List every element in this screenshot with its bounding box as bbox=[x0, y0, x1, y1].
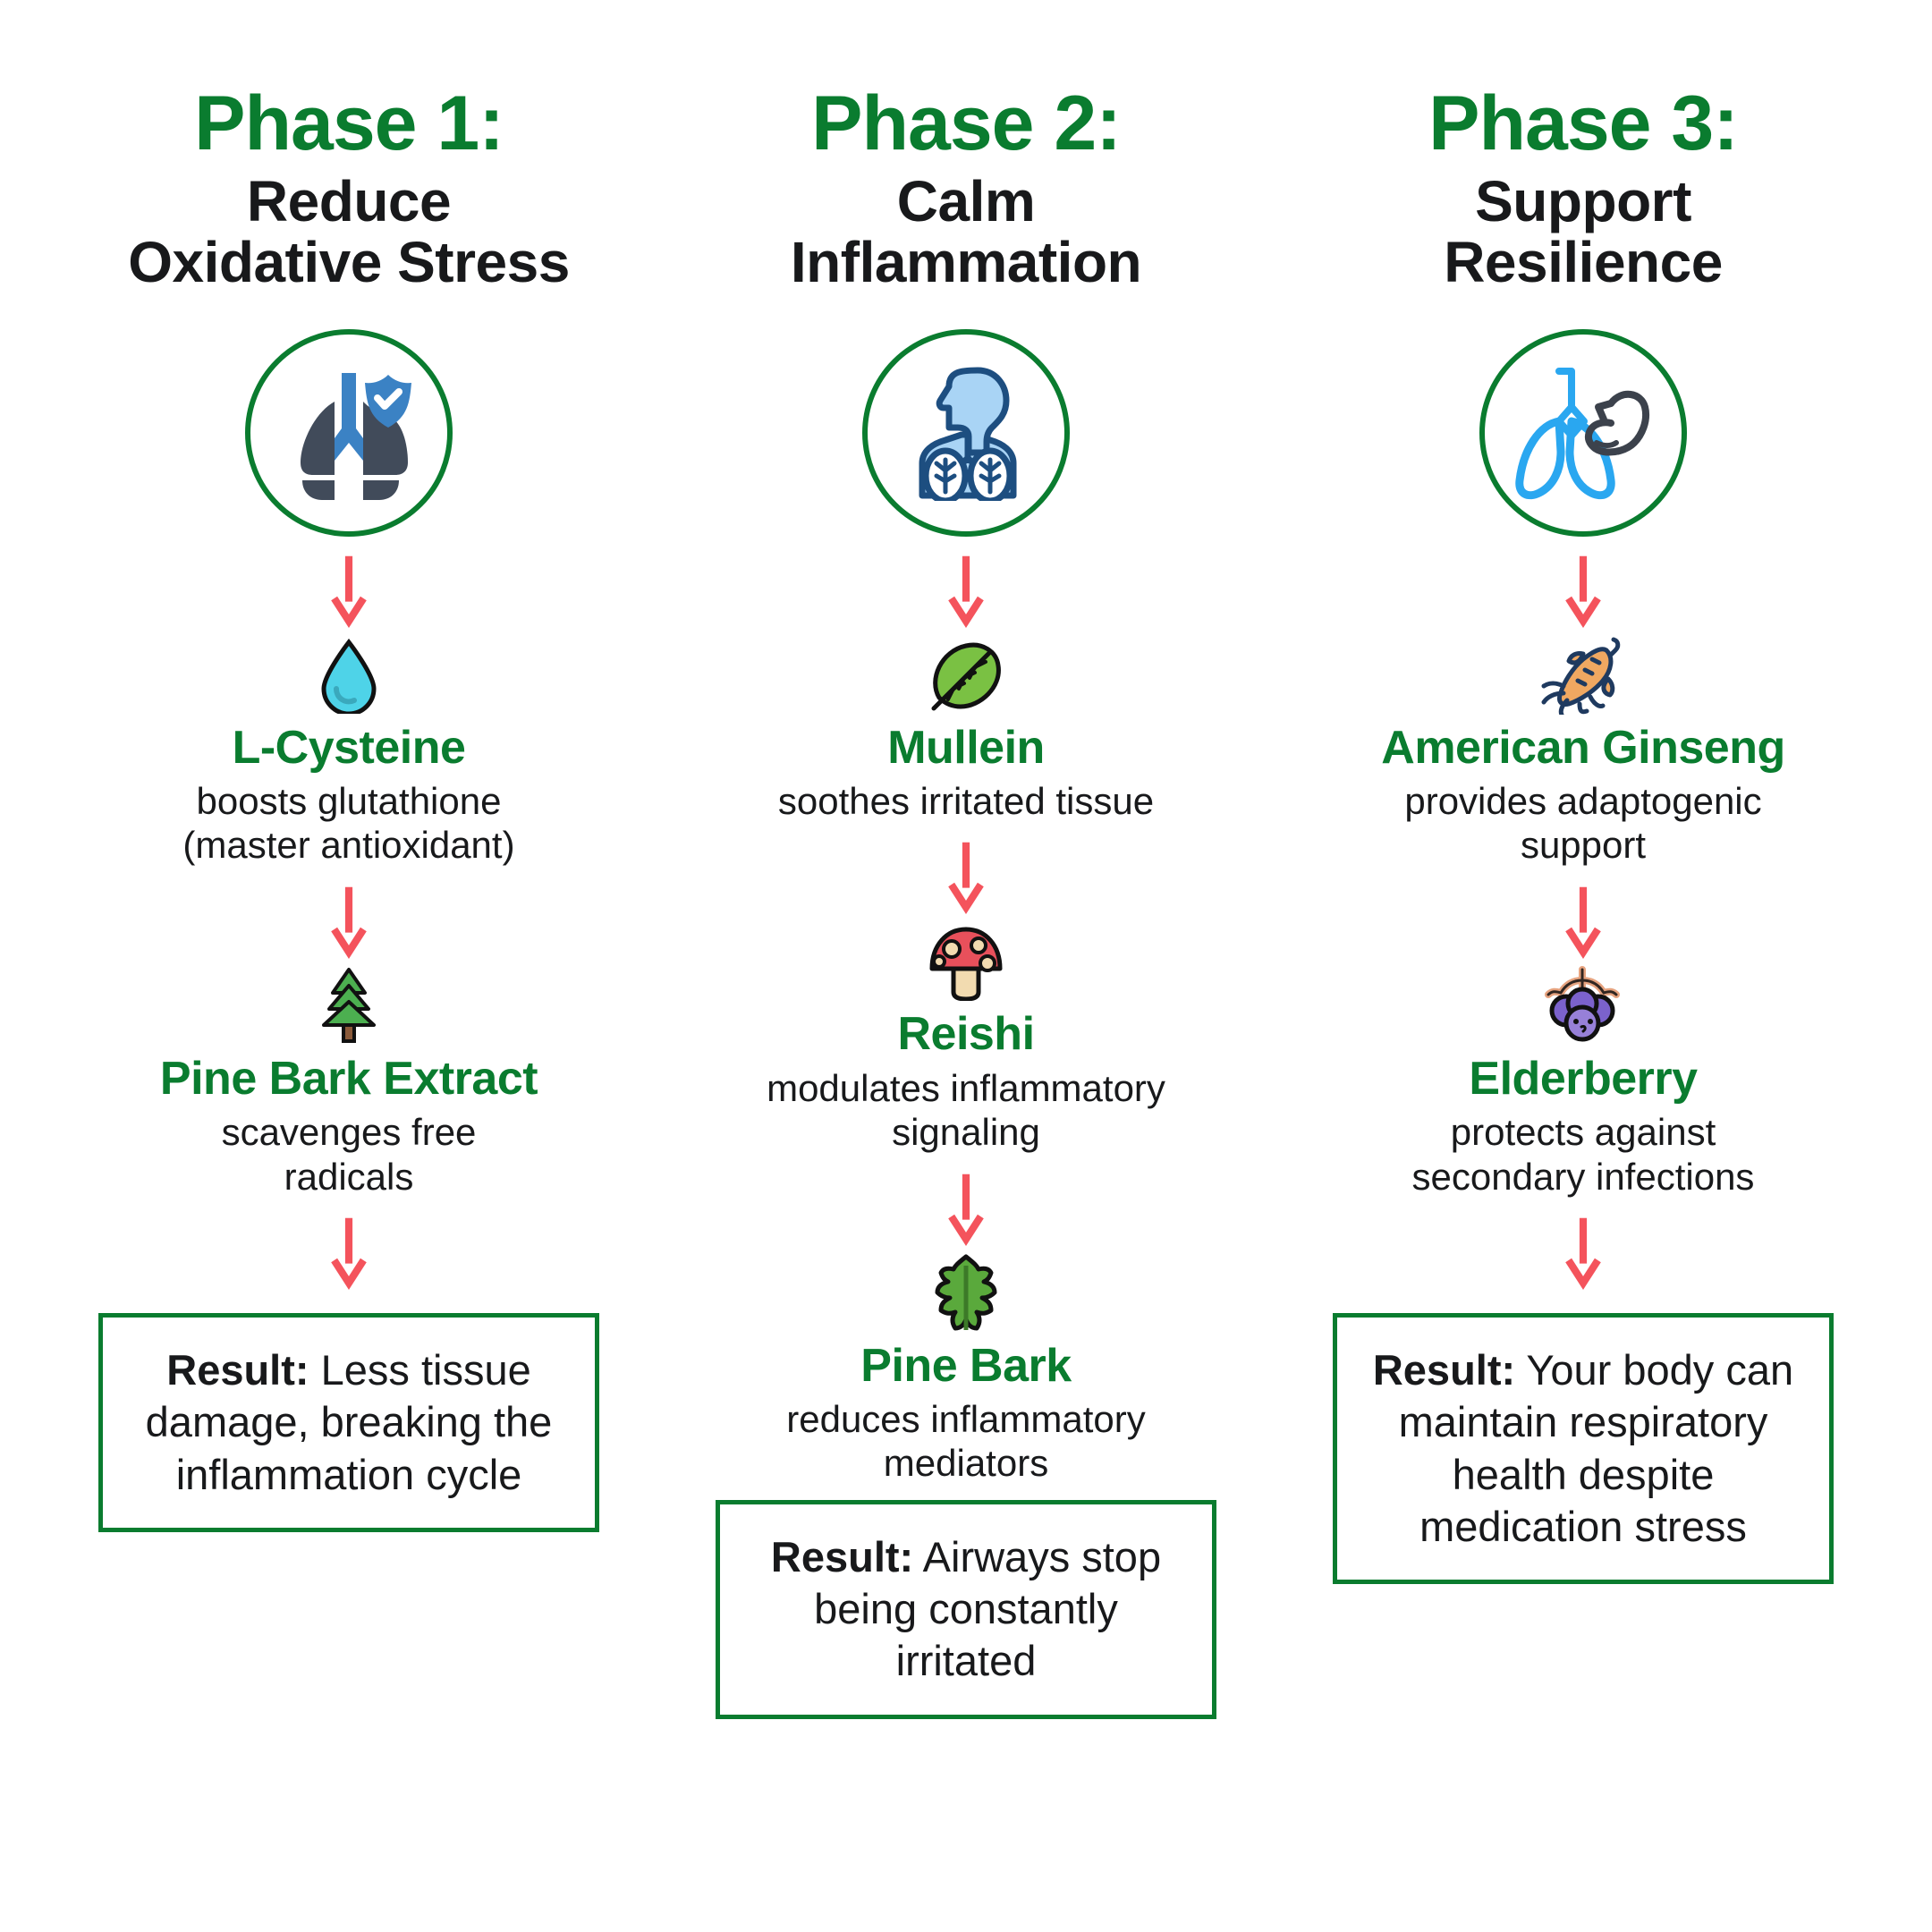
ingredient-name: L-Cysteine bbox=[233, 723, 466, 774]
leaf-icon bbox=[925, 637, 1007, 714]
ingredient-name: Reishi bbox=[897, 1009, 1034, 1060]
flow-arrow bbox=[948, 551, 984, 628]
phase-subtitle-3: Support Resilience bbox=[1444, 171, 1723, 293]
ingredient-desc: modulates inflammatory signaling bbox=[767, 1066, 1165, 1155]
flow-arrow bbox=[331, 882, 367, 959]
result-box: Result: Less tissue damage, breaking the… bbox=[98, 1313, 599, 1532]
ingredient-block: L-Cysteine boosts glutathione (master an… bbox=[54, 637, 644, 868]
water-droplet-icon bbox=[317, 637, 381, 714]
ingredient-desc: provides adaptogenic support bbox=[1404, 779, 1761, 868]
result-box: Result: Airways stop being constantly ir… bbox=[716, 1500, 1216, 1719]
phase-subtitle-2: Calm Inflammation bbox=[791, 171, 1141, 293]
ingredient-desc: reduces inflammatory mediators bbox=[786, 1397, 1145, 1486]
phase-icon-circle-2 bbox=[862, 329, 1070, 537]
ingredient-block: Pine Bark reduces inflammatory mediators bbox=[671, 1255, 1261, 1486]
ingredient-name: American Ginseng bbox=[1381, 723, 1784, 774]
phase-column-1: Phase 1: Reduce Oxidative Stress bbox=[54, 85, 644, 1532]
herb-leaf-icon bbox=[932, 1255, 1000, 1332]
result-label: Result: bbox=[166, 1346, 309, 1394]
ingredient-desc: scavenges free radicals bbox=[222, 1110, 477, 1199]
flow-arrow bbox=[948, 1169, 984, 1246]
mushroom-icon bbox=[925, 923, 1007, 1000]
flow-arrow bbox=[1565, 882, 1601, 959]
ingredient-block: Elderberry protects against secondary in… bbox=[1288, 968, 1878, 1199]
ingredient-desc: soothes irritated tissue bbox=[778, 779, 1154, 824]
elderberry-icon bbox=[1541, 968, 1625, 1045]
phase-title-2: Phase 2: bbox=[811, 85, 1121, 164]
ingredient-block: Reishi modulates inflammatory signaling bbox=[671, 923, 1261, 1154]
evergreen-tree-icon bbox=[311, 968, 386, 1045]
ginseng-root-icon bbox=[1540, 637, 1626, 714]
result-label: Result: bbox=[1373, 1346, 1515, 1394]
lungs-shield-icon bbox=[275, 366, 422, 500]
person-respiratory-system-icon bbox=[895, 365, 1037, 501]
phase-icon-circle-3 bbox=[1479, 329, 1687, 537]
ingredient-desc: boosts glutathione (master antioxidant) bbox=[182, 779, 514, 868]
ingredient-name: Mullein bbox=[887, 723, 1045, 774]
ingredient-block: Pine Bark Extract scavenges free radical… bbox=[54, 968, 644, 1199]
ingredient-name: Pine Bark bbox=[860, 1341, 1071, 1392]
ingredient-block: Mullein soothes irritated tissue bbox=[671, 637, 1261, 824]
result-label: Result: bbox=[771, 1533, 913, 1580]
result-box: Result: Your body can maintain respirato… bbox=[1333, 1313, 1834, 1584]
phase-icon-circle-1 bbox=[245, 329, 453, 537]
ingredient-name: Elderberry bbox=[1469, 1054, 1697, 1105]
flow-arrow bbox=[948, 837, 984, 914]
phase-subtitle-1: Reduce Oxidative Stress bbox=[128, 171, 570, 293]
infographic-board: Phase 1: Reduce Oxidative Stress bbox=[0, 0, 1932, 1932]
phase-title-1: Phase 1: bbox=[194, 85, 504, 164]
flow-arrow bbox=[1565, 551, 1601, 628]
flow-arrow bbox=[331, 1213, 367, 1290]
phase-column-3: Phase 3: Support Resilience bbox=[1288, 85, 1878, 1584]
flow-arrow bbox=[1565, 1213, 1601, 1290]
lungs-muscle-icon bbox=[1507, 366, 1659, 500]
ingredient-desc: protects against secondary infections bbox=[1412, 1110, 1755, 1199]
ingredient-name: Pine Bark Extract bbox=[160, 1054, 538, 1105]
flow-arrow bbox=[331, 551, 367, 628]
phase-title-3: Phase 3: bbox=[1428, 85, 1738, 164]
phase-column-2: Phase 2: Calm Inflammation bbox=[671, 85, 1261, 1719]
ingredient-block: American Ginseng provides adaptogenic su… bbox=[1288, 637, 1878, 868]
